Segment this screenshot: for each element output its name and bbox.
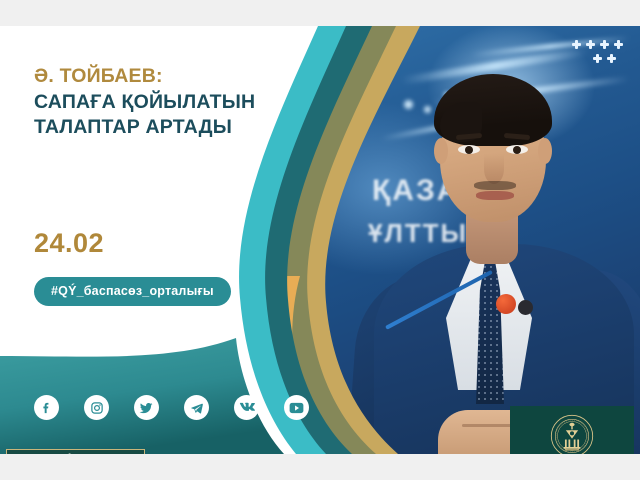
moustache: [474, 181, 516, 190]
plus-icon: [572, 40, 581, 49]
youtube-icon: [289, 402, 304, 414]
social-link-facebook[interactable]: [34, 395, 59, 420]
social-links: [34, 395, 309, 420]
speaker-figure: [318, 26, 640, 454]
pupil-left: [465, 146, 473, 154]
instagram-icon: [90, 401, 104, 415]
pupil-right: [513, 146, 521, 154]
headline-line-1: Ә. ТОЙБАЕВ:: [34, 64, 312, 90]
microphone-head: [496, 294, 516, 314]
social-link-vk[interactable]: [234, 395, 259, 420]
kazmkpu-crest-icon: [550, 414, 594, 455]
headline-line-3: ТАЛАПТАР АРТАДЫ: [34, 115, 312, 141]
plus-icon: [586, 40, 595, 49]
social-link-youtube[interactable]: [284, 395, 309, 420]
university-logo-panel: www.kazmkpu.kz: [510, 406, 634, 454]
microphone-head-secondary: [518, 300, 533, 315]
plus-icon: [600, 40, 609, 49]
social-link-twitter[interactable]: [134, 395, 159, 420]
screenshot-canvas: ҚАЗАҚ ҰЛТТЫҚ: [0, 0, 640, 480]
facebook-icon: [39, 400, 54, 415]
hashtag-pill[interactable]: #QÝ_баспасөз_орталығы: [34, 277, 231, 306]
hair: [434, 74, 552, 146]
nose: [484, 154, 504, 184]
mouth: [476, 191, 514, 200]
vk-icon: [239, 400, 255, 416]
plus-icon: [614, 40, 623, 49]
twitter-icon: [139, 400, 154, 415]
plus-icon: [607, 54, 616, 63]
ear-right: [538, 138, 552, 164]
headline-block: Ә. ТОЙБАЕВ: САПАҒА ҚОЙЫЛАТЫН ТАЛАПТАР АР…: [34, 64, 312, 141]
decorative-cross-cluster: [572, 40, 626, 70]
event-date: 24.02: [34, 228, 104, 259]
telegram-icon: [190, 401, 204, 415]
social-link-telegram[interactable]: [184, 395, 209, 420]
plus-icon: [593, 54, 602, 63]
university-name-badge: Qyzdar Ýnıversıteti: [6, 449, 145, 454]
headline-line-2: САПАҒА ҚОЙЫЛАТЫН: [34, 90, 312, 116]
ear-left: [434, 138, 448, 164]
social-link-instagram[interactable]: [84, 395, 109, 420]
news-banner: ҚАЗАҚ ҰЛТТЫҚ: [0, 26, 640, 454]
